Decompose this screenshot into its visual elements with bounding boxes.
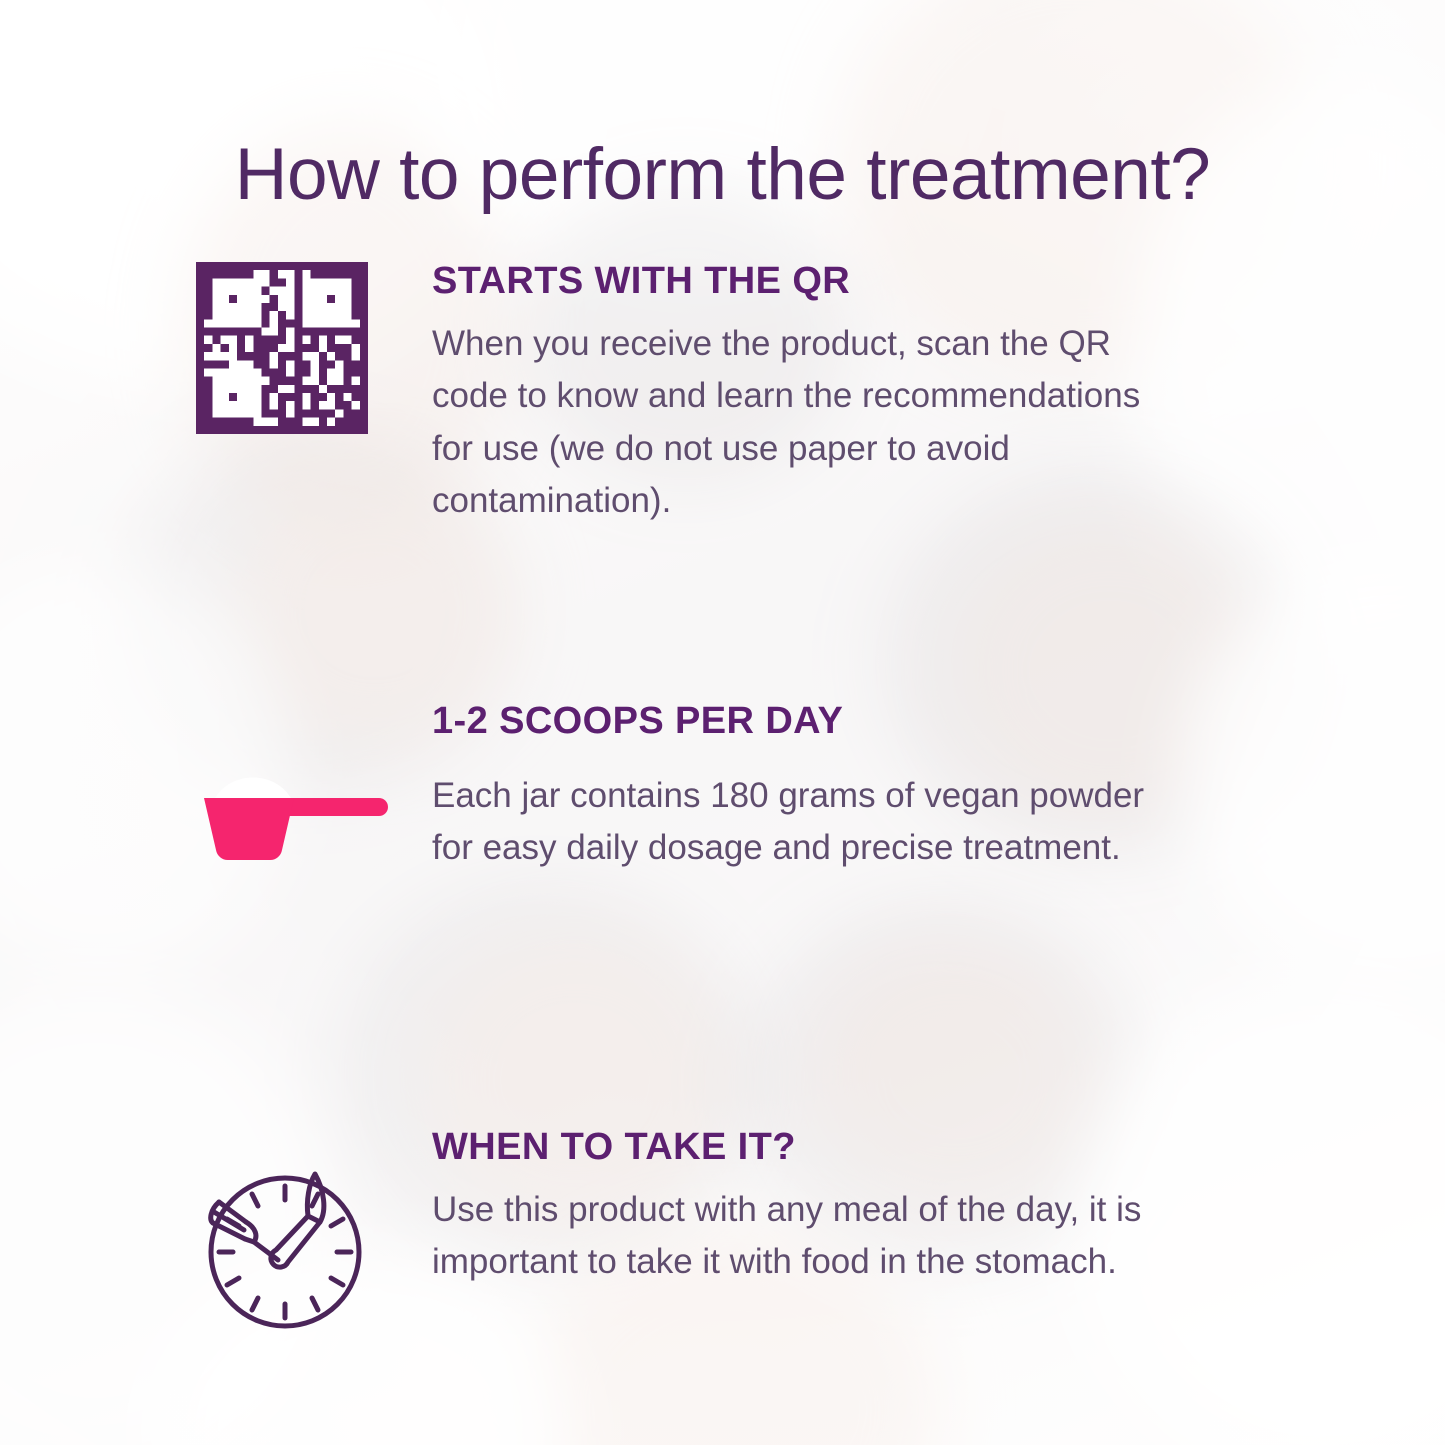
step-heading: STARTS WITH THE QR: [432, 262, 1187, 302]
step-text-block: 1-2 SCOOPS PER DAY Each jar contains 180…: [432, 702, 1187, 875]
step-heading: 1-2 SCOOPS PER DAY: [432, 702, 1187, 742]
step-text-block: STARTS WITH THE QR When you receive the …: [432, 262, 1187, 528]
infographic-page: How to perform the treatment?: [0, 0, 1445, 1445]
clock-with-cutlery-icon: [196, 1160, 374, 1338]
step-body: Each jar contains 180 grams of vegan pow…: [432, 770, 1187, 875]
step-body: Use this product with any meal of the da…: [432, 1184, 1222, 1289]
step-text-block: WHEN TO TAKE IT? Use this product with a…: [432, 1128, 1222, 1289]
step-heading: WHEN TO TAKE IT?: [432, 1128, 1222, 1168]
page-title: How to perform the treatment?: [0, 133, 1445, 216]
step-body: When you receive the product, scan the Q…: [432, 318, 1187, 528]
measuring-scoop-icon: [196, 768, 396, 878]
qr-code-icon: [196, 262, 368, 434]
